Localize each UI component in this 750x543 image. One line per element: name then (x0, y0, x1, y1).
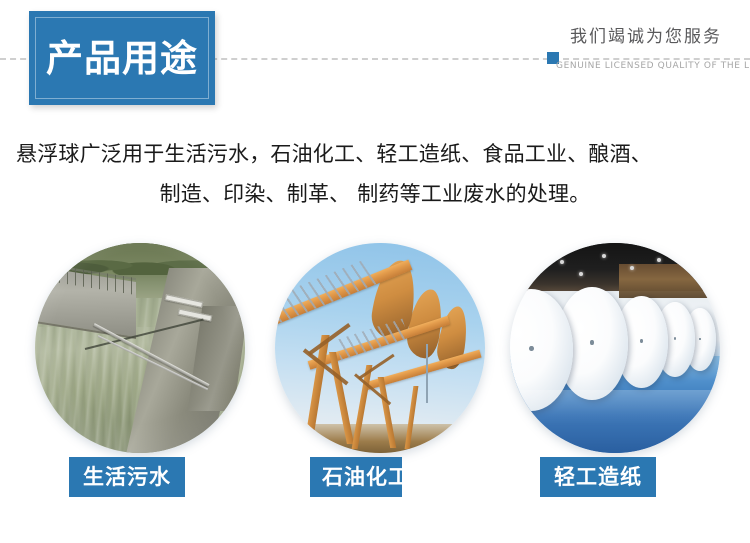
card-caption-sewage: 生活污水 (69, 457, 185, 497)
application-card-petrochemical[interactable]: 石油化工 (268, 237, 492, 507)
intro-paragraph: 悬浮球广泛用于生活污水，石油化工、轻工造纸、食品工业、酿酒、 制造、印染、制革、… (16, 134, 734, 214)
paper-rolls-photo (510, 243, 720, 453)
card-caption-papermaking: 轻工造纸 (540, 457, 656, 497)
header-slogan-cn: 我们竭诚为您服务 (556, 28, 736, 48)
intro-line-2: 制造、印染、制革、 制药等工业废水的处理。 (16, 174, 734, 214)
sewage-canal-photo (35, 243, 245, 453)
header-slogan-en: GENUINE LICENSED QUALITY OF THE LETTER (556, 62, 740, 71)
application-card-papermaking[interactable]: 轻工造纸 (503, 237, 727, 507)
page-title: 产品用途 (29, 11, 215, 105)
page-header: 产品用途 我们竭诚为您服务 GENUINE LICENSED QUALITY O… (0, 0, 750, 120)
page-title-box: 产品用途 (29, 11, 215, 105)
intro-line-1: 悬浮球广泛用于生活污水，石油化工、轻工造纸、食品工业、酿酒、 (16, 134, 734, 174)
application-card-sewage[interactable]: 生活污水 (28, 237, 252, 507)
oil-pumpjack-photo (275, 243, 485, 453)
application-cards: 生活污水 (0, 237, 750, 517)
card-caption-petrochemical: 石油化工 (310, 457, 402, 497)
